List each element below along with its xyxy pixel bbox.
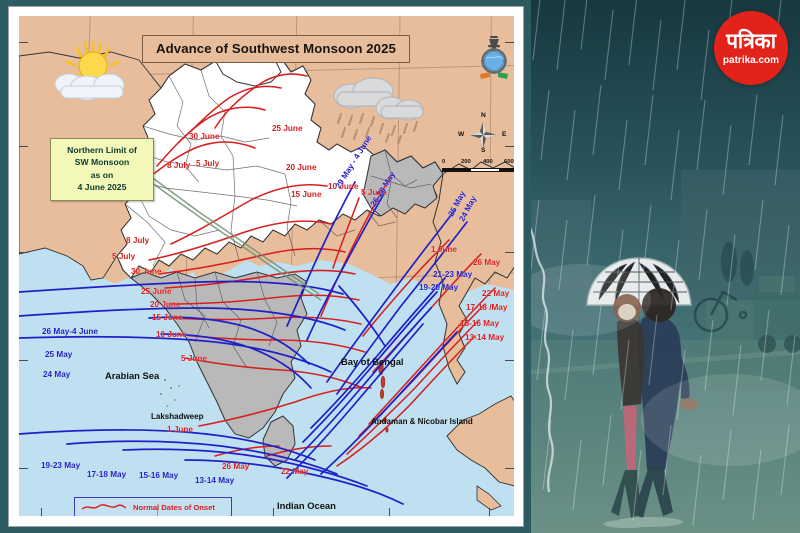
normal-onset-date-label: 1 June <box>431 246 457 254</box>
note-line-1: Northern Limit of <box>55 144 149 156</box>
normal-onset-date-label: 26 May <box>222 463 249 471</box>
frame-tick <box>273 508 274 516</box>
map-legend: Normal Dates of Onset Actual Dates of On… <box>74 497 232 516</box>
normal-onset-date-label: 22 May <box>281 468 308 476</box>
actual-onset-date-label: 19-20 May <box>419 284 458 292</box>
note-line-3: as on <box>55 169 149 181</box>
monsoon-map-panel: N S W E 0 200 400 600 km <box>0 0 531 533</box>
legend-normal-label: Normal Dates of Onset <box>133 503 215 512</box>
normal-onset-date-label: 25 June <box>272 125 303 133</box>
screenshot-root: N S W E 0 200 400 600 km <box>0 0 800 533</box>
normal-onset-date-label: 17-18 /May <box>466 304 507 312</box>
geographic-name-label: Arabian Sea <box>105 371 159 380</box>
northern-limit-note: Northern Limit of SW Monsoon as on 4 Jun… <box>50 138 154 201</box>
map-canvas: N S W E 0 200 400 600 km <box>19 16 514 516</box>
frame-tick <box>505 360 514 361</box>
actual-onset-date-label: 13-14 May <box>195 477 234 485</box>
geographic-name-label: Bay of Bengal <box>341 357 404 366</box>
actual-onset-date-label: 19-23 May <box>41 462 80 470</box>
frame-tick <box>19 42 28 43</box>
normal-onset-date-label: 30 June <box>131 268 162 276</box>
scale-bar: 0 200 400 600 km <box>442 159 514 172</box>
frame-tick <box>489 508 490 516</box>
frame-tick <box>19 252 28 253</box>
normal-onset-date-label: 15 June <box>152 314 183 322</box>
watermark-hindi-text: पत्रिका <box>726 31 776 52</box>
geographic-name-label: Indian Ocean <box>277 501 336 510</box>
sun-behind-cloud-icon <box>47 40 133 102</box>
frame-tick <box>505 468 514 469</box>
compass-rose-icon: N S W E <box>456 112 510 156</box>
lightning-bolt-icon <box>531 222 553 492</box>
normal-onset-date-label: 22 May <box>482 290 509 298</box>
normal-onset-date-label: 30 June <box>189 133 220 141</box>
normal-onset-date-label: 15-16 May <box>460 320 499 328</box>
normal-onset-date-label: 25 June <box>141 288 172 296</box>
normal-onset-date-label: 1 June <box>167 426 193 434</box>
geographic-name-label: Andaman & Nicobar Island <box>371 418 473 426</box>
scale-tick-400: 400 <box>483 159 493 165</box>
actual-onset-date-label: 21-23 May <box>433 271 472 279</box>
page-title: Advance of Southwest Monsoon 2025 <box>142 35 410 63</box>
legend-row-normal: Normal Dates of Onset <box>75 498 231 516</box>
actual-onset-date-label: 17-18 May <box>87 471 126 479</box>
compass-east-label: E <box>502 131 506 138</box>
scale-tick-0: 0 <box>442 159 445 165</box>
normal-onset-date-label: 5 June <box>181 355 207 363</box>
normal-onset-date-label: 5 July <box>196 160 219 168</box>
actual-onset-date-label: 15-16 May <box>139 472 178 480</box>
frame-tick <box>19 468 28 469</box>
normal-onset-date-label: 8 July <box>126 237 149 245</box>
scale-tick-200: 200 <box>461 159 471 165</box>
geographic-name-label: Lakshadweep <box>151 413 203 421</box>
rain-photograph: पत्रिका patrika.com <box>531 0 800 533</box>
frame-tick <box>505 252 514 253</box>
actual-onset-date-label: 25 May <box>45 351 72 359</box>
actual-onset-date-label: 26 May-4 June <box>42 328 98 336</box>
compass-west-label: W <box>458 131 464 138</box>
note-line-2: SW Monsoon <box>55 156 149 168</box>
frame-tick <box>19 146 28 147</box>
normal-onset-date-label: 13-14 May <box>465 334 504 342</box>
patrika-watermark-logo: पत्रिका patrika.com <box>714 11 788 85</box>
scale-tick-600: 600 km <box>504 159 514 165</box>
map-frame: N S W E 0 200 400 600 km <box>8 6 524 527</box>
compass-north-label: N <box>481 112 486 119</box>
frame-tick <box>41 508 42 516</box>
actual-onset-date-label: 24 May <box>43 371 70 379</box>
normal-onset-date-label: 10 June <box>156 331 187 339</box>
watermark-english-text: patrika.com <box>723 55 779 66</box>
normal-onset-date-label: 8 July <box>167 162 190 170</box>
rain-cloud-icon <box>325 74 429 144</box>
frame-tick <box>389 508 390 516</box>
imd-emblem-icon <box>477 34 511 84</box>
normal-onset-date-label: 20 June <box>286 164 317 172</box>
normal-onset-date-label: 20 June <box>150 301 181 309</box>
compass-south-label: S <box>481 147 485 154</box>
note-line-4: 4 June 2025 <box>55 181 149 193</box>
normal-onset-date-label: 26 May <box>473 259 500 267</box>
normal-onset-date-label: 15 June <box>291 191 322 199</box>
frame-tick <box>19 360 28 361</box>
normal-onset-date-label: 5 July <box>112 253 135 261</box>
normal-onset-swatch <box>81 502 127 513</box>
